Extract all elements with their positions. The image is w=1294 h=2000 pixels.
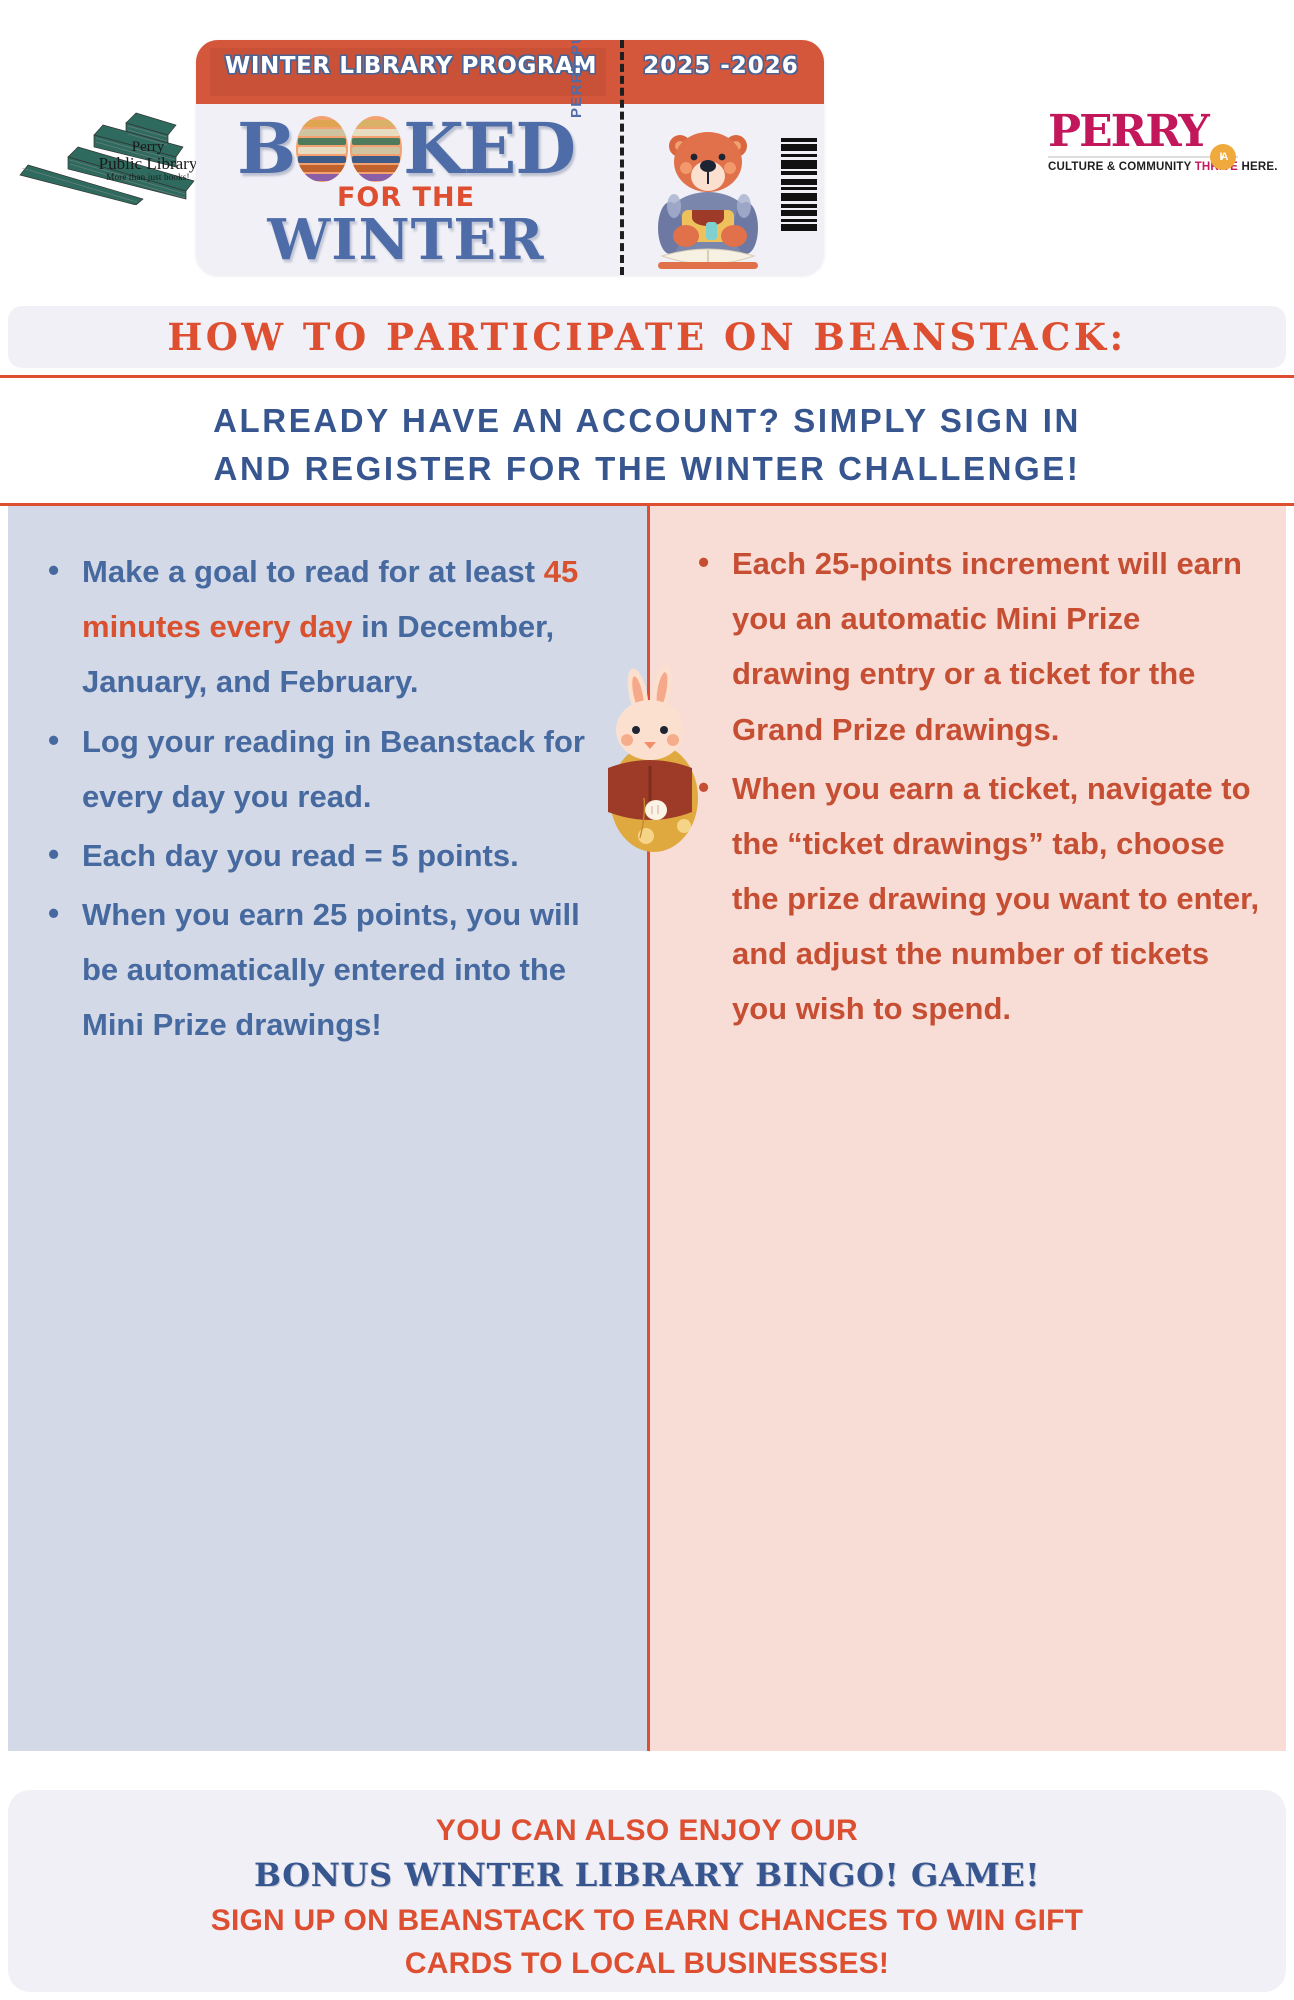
booked-wordmark: B (208, 112, 604, 270)
right-bullet-list: Each 25-points increment will earn you a… (650, 506, 1286, 1037)
header-band: Perry Public Library More than just book… (0, 0, 1294, 300)
ticket-vertical-library-label: PERRY PUBLIC LIBRARY (568, 40, 598, 118)
book-stack-o-icon-2 (350, 116, 402, 182)
bullet-text: Log your reading in Beanstack for every … (82, 724, 585, 814)
poster-page: Perry Public Library More than just book… (0, 0, 1294, 2000)
library-name-line1: Perry (88, 140, 208, 155)
perry-tagline-c: HERE. (1238, 161, 1278, 173)
booked-letters-ked: KED (403, 114, 575, 184)
perry-tagline: CULTURE & COMMUNITY THRIVE HERE. (1048, 161, 1238, 173)
bullet-text: Make a goal to read for at least (82, 554, 544, 589)
perry-state-badge: IA (1210, 144, 1236, 170)
city-of-perry-logo: PERRY IA CULTURE & COMMUNITY THRIVE HERE… (1048, 110, 1238, 195)
list-item: When you earn 25 points, you will be aut… (42, 887, 621, 1053)
perry-wordmark: PERRY IA (1048, 110, 1238, 154)
footer-line1: YOU CAN ALSO ENJOY OUR (8, 1812, 1286, 1850)
bullet-text: Each 25-points increment will earn you a… (732, 546, 1242, 747)
list-item: Log your reading in Beanstack for every … (42, 714, 621, 824)
left-instruction-panel: Make a goal to read for at least 45 minu… (8, 506, 647, 1751)
footer-line3a: SIGN UP ON BEANSTACK TO EARN CHANCES TO … (8, 1901, 1286, 1940)
page-title: HOW TO PARTICIPATE ON BEANSTACK: (8, 306, 1286, 368)
library-name-line2: Public Library (88, 155, 208, 172)
reading-bunny-icon (600, 660, 710, 860)
ticket-program-label: WINTER LIBRARY PROGRAM (216, 53, 606, 79)
booked-line1: B (208, 112, 604, 186)
list-item: Each 25-points increment will earn you a… (692, 536, 1260, 757)
booked-letter-b: B (237, 114, 295, 184)
perry-tagline-a: CULTURE & COMMUNITY (1048, 161, 1195, 173)
divider-top (0, 375, 1294, 378)
bullet-text: Each day you read = 5 points. (82, 838, 519, 873)
list-item: When you earn a ticket, navigate to the … (692, 761, 1260, 1037)
subheading-block: ALREADY HAVE AN ACCOUNT? SIMPLY SIGN IN … (0, 388, 1294, 501)
ticket-perforation-line (620, 40, 624, 275)
footer-line3b: CARDS TO LOCAL BUSINESSES! (8, 1944, 1286, 1983)
footer-banner: YOU CAN ALSO ENJOY OUR BONUS WINTER LIBR… (8, 1790, 1286, 1992)
library-logo-text: Perry Public Library More than just book… (88, 140, 208, 182)
booked-winter: WINTER (208, 211, 604, 270)
list-item: Make a goal to read for at least 45 minu… (42, 544, 621, 710)
subheading-line1: ALREADY HAVE AN ACCOUNT? SIMPLY SIGN IN (213, 397, 1081, 445)
ticket-barcode-icon (781, 138, 817, 238)
reading-bear-icon (648, 110, 768, 270)
subheading-line2: AND REGISTER FOR THE WINTER CHALLENGE! (214, 445, 1081, 493)
program-ticket-graphic: WINTER LIBRARY PROGRAM 2025 -2026 B (196, 40, 824, 275)
bullet-text: When you earn a ticket, navigate to the … (732, 771, 1259, 1027)
left-bullet-list: Make a goal to read for at least 45 minu… (8, 506, 647, 1053)
library-tagline: More than just books! (88, 173, 208, 182)
ticket-year-label: 2025 -2026 (626, 53, 816, 79)
footer-line2: BONUS WINTER LIBRARY BINGO! GAME! (8, 1854, 1286, 1897)
right-instruction-panel: Each 25-points increment will earn you a… (647, 506, 1286, 1751)
perry-wordmark-text: PERRY (1048, 106, 1208, 157)
bullet-text: When you earn 25 points, you will be aut… (82, 897, 580, 1042)
book-stack-o-icon-1 (296, 116, 348, 182)
list-item: Each day you read = 5 points. (42, 828, 621, 883)
headline-banner: HOW TO PARTICIPATE ON BEANSTACK: (8, 306, 1286, 368)
